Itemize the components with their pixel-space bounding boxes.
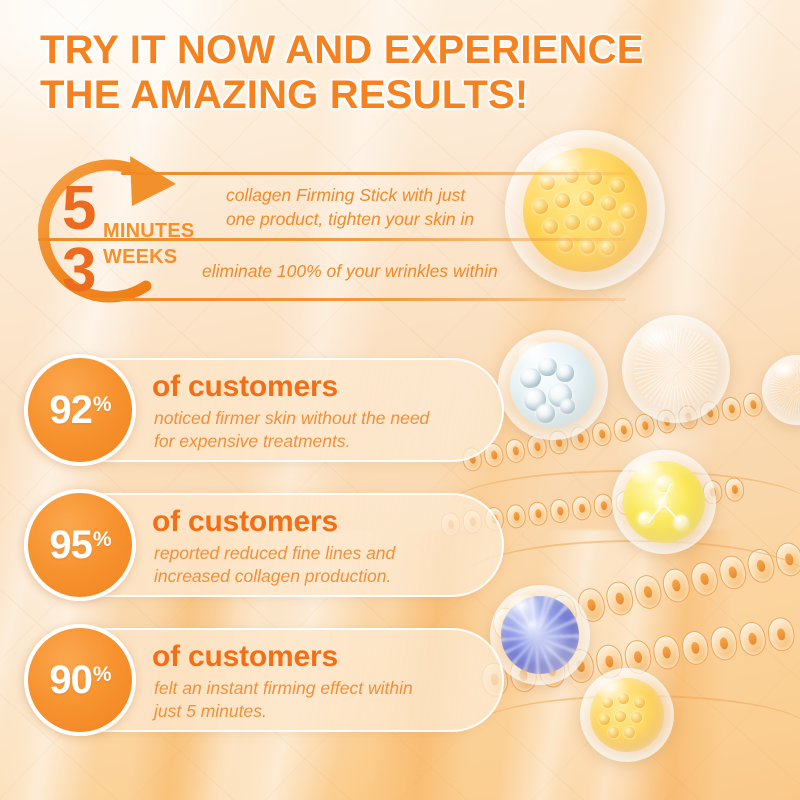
collagen-fiber	[470, 695, 800, 765]
skin-cell	[527, 501, 549, 527]
divider-bottom	[92, 298, 626, 301]
skin-cell	[651, 634, 682, 672]
stat-title-92: of customers	[152, 370, 338, 404]
stat-body-95: reported reduced fine lines and increase…	[154, 542, 504, 588]
timer-callout-block: 5 MINUTES collagen Firming Stick with ju…	[26, 150, 626, 320]
timer-text-weeks: eliminate 100% of your wrinkles within	[202, 260, 498, 284]
skin-cell	[575, 586, 608, 625]
poster-canvas: TRY IT NOW AND EXPERIENCE THE AMAZING RE…	[0, 0, 800, 800]
skin-cell	[720, 395, 743, 422]
stat-badge-90: 90%	[24, 624, 136, 736]
skin-cell	[525, 433, 548, 460]
stat-body-90: felt an instant firming effect within ju…	[154, 677, 504, 723]
skin-cell	[676, 404, 699, 431]
skin-cell	[518, 599, 551, 638]
divider-top	[121, 172, 626, 175]
skin-cell	[716, 553, 749, 592]
skin-cell	[680, 482, 702, 508]
skin-cell	[658, 485, 680, 511]
timer-unit-weeks: WEEKS	[103, 246, 177, 269]
timer-number-weeks: 3	[62, 240, 96, 302]
amber-radiant-sphere	[622, 315, 730, 423]
skin-cell	[549, 498, 571, 524]
percent-sign-icon: %	[93, 664, 111, 685]
page-title: TRY IT NOW AND EXPERIENCE THE AMAZING RE…	[40, 28, 740, 118]
sphere-glass-shell	[498, 330, 608, 440]
stat-title-95: of customers	[152, 505, 338, 539]
skin-cell	[745, 546, 778, 585]
yellow-molecule-sphere	[612, 450, 716, 554]
stat-percent-95: 95%	[49, 525, 110, 565]
stat-body-92: noticed firmer skin without the need for…	[154, 407, 504, 453]
stat-pill-90: 90% of customers felt an instant firming…	[24, 628, 504, 732]
blue-swirl-core	[501, 596, 579, 674]
skin-cell	[766, 615, 797, 653]
skin-cell	[660, 566, 693, 605]
skin-cell	[568, 425, 591, 452]
skin-cell	[741, 391, 764, 418]
skin-cell-layer-lower	[490, 540, 800, 644]
blue-swirl-sphere	[490, 585, 590, 685]
stat-badge-95: 95%	[24, 489, 136, 601]
sphere-highlight	[597, 677, 629, 701]
skin-cell	[547, 429, 570, 456]
sphere-highlight	[641, 326, 678, 354]
skin-cell	[623, 638, 654, 676]
skin-cell	[708, 625, 739, 663]
skin-cell	[547, 592, 580, 631]
sphere-glass-shell	[580, 668, 674, 762]
skin-cell	[655, 408, 678, 435]
skin-cell-layer-upper	[461, 391, 765, 473]
skin-cell	[537, 652, 568, 690]
percent-sign-icon: %	[93, 394, 111, 415]
collagen-fiber	[460, 540, 800, 620]
stat-title-90: of customers	[152, 640, 338, 674]
stat-badge-92: 92%	[24, 354, 136, 466]
stat-percent-value: 92	[49, 390, 92, 430]
sphere-glass-shell	[762, 355, 800, 425]
skin-cell	[702, 479, 724, 505]
skin-cell	[688, 559, 721, 598]
skin-cell	[603, 579, 636, 618]
sphere-highlight	[631, 460, 666, 487]
sphere-glass-shell	[622, 315, 730, 423]
sphere-highlight	[518, 341, 555, 370]
skin-cell	[565, 647, 596, 685]
collagen-fiber	[450, 470, 800, 540]
amber-core	[634, 327, 718, 411]
stat-pill-95: 95% of customers reported reduced fine l…	[24, 493, 504, 597]
skin-cell	[636, 487, 658, 513]
skin-cell	[571, 495, 593, 521]
percent-sign-icon: %	[93, 529, 111, 550]
sphere-highlight	[775, 362, 799, 380]
skin-cell	[505, 503, 527, 529]
stat-pill-92: 92% of customers noticed firmer skin wit…	[24, 358, 504, 462]
skin-cell	[633, 412, 656, 439]
skin-cell	[724, 477, 746, 503]
silver-bubble-sphere	[498, 330, 608, 440]
skin-cell	[490, 605, 523, 644]
skin-cell	[680, 629, 711, 667]
stat-percent-90: 90%	[49, 660, 110, 700]
sphere-glass-shell	[612, 450, 716, 554]
skin-cell	[698, 400, 721, 427]
stat-percent-value: 95	[49, 525, 92, 565]
skin-cell	[504, 437, 527, 464]
skin-cell-layer-bottom	[479, 615, 796, 698]
sphere-glass-shell	[490, 585, 590, 685]
honeycomb-sphere-bottom	[580, 668, 674, 762]
honeycomb-core	[590, 678, 663, 751]
skin-cell	[632, 573, 665, 612]
sphere-highlight	[508, 595, 542, 621]
amber-core	[770, 363, 800, 418]
stat-percent-92: 92%	[49, 390, 110, 430]
skin-cell	[594, 643, 625, 681]
skin-cell	[737, 620, 768, 658]
stat-percent-value: 90	[49, 660, 92, 700]
skin-cell	[508, 656, 539, 694]
skin-cell	[773, 540, 800, 579]
skin-cell	[614, 490, 636, 516]
bubble-core	[510, 342, 596, 428]
skin-cell	[612, 416, 635, 443]
timer-number-minutes: 5	[62, 178, 96, 240]
skin-cell	[593, 493, 615, 519]
skin-cell	[590, 421, 613, 448]
timer-text-minutes: collagen Firming Stick with just one pro…	[226, 184, 474, 231]
amber-edge-sphere	[762, 355, 800, 425]
molecule-core	[623, 461, 704, 542]
timer-unit-minutes: MINUTES	[103, 220, 194, 243]
